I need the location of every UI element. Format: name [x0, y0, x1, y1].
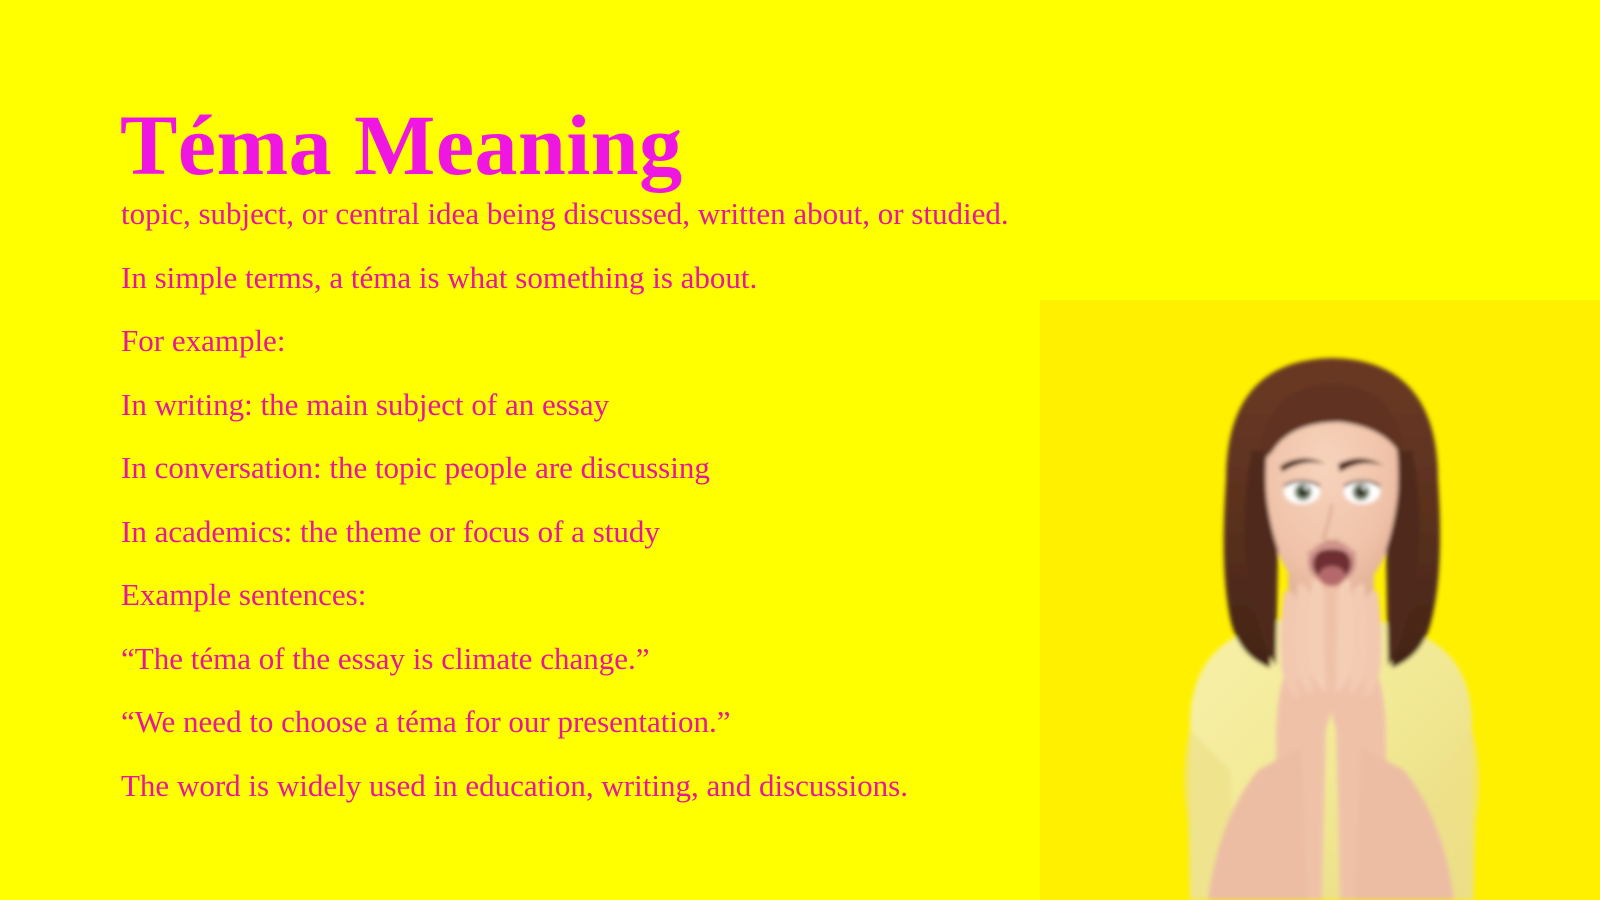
surprised-woman-photo [1040, 300, 1600, 900]
slide-canvas: Téma Meaning topic, subject, or central … [0, 0, 1600, 900]
body-line: For example: [121, 309, 1071, 373]
body-line: The word is widely used in education, wr… [121, 754, 1071, 818]
body-line: In conversation: the topic people are di… [121, 436, 1071, 500]
body-line: “The téma of the essay is climate change… [121, 627, 1071, 691]
page-title: Téma Meaning [120, 102, 683, 190]
body-line: In simple terms, a téma is what somethin… [121, 246, 1071, 310]
body-text-block: topic, subject, or central idea being di… [121, 182, 1071, 817]
body-line: Example sentences: [121, 563, 1071, 627]
body-line: In writing: the main subject of an essay [121, 373, 1071, 437]
body-line: “We need to choose a téma for our presen… [121, 690, 1071, 754]
body-line: In academics: the theme or focus of a st… [121, 500, 1071, 564]
body-line: topic, subject, or central idea being di… [121, 182, 1071, 246]
